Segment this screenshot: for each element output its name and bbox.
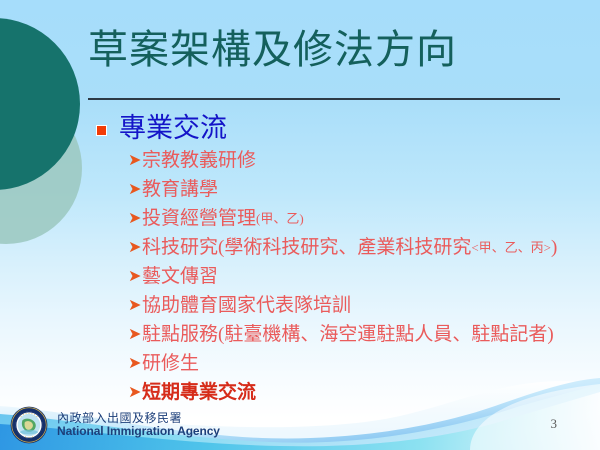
level2-list-item: ➤研修生 (128, 350, 596, 377)
arrow-right-marker-icon: ➤ (128, 263, 141, 290)
slide-canvas: 草案架構及修法方向 專業交流 ➤宗教教義研修➤教育講學➤投資經營管理(甲、乙)➤… (0, 0, 600, 450)
level2-list: ➤宗教教義研修➤教育講學➤投資經營管理(甲、乙)➤科技研究(學術科技研究、產業科… (96, 147, 596, 406)
slide-title: 草案架構及修法方向 (88, 27, 457, 73)
level2-item-label: 宗教教義研修 (142, 147, 256, 174)
level2-item-annotation: <甲、乙、丙> (471, 234, 551, 261)
level2-list-item: ➤投資經營管理(甲、乙) (128, 205, 596, 232)
nia-emblem-logo-icon (10, 406, 48, 444)
page-number: 3 (551, 416, 558, 432)
level2-item-label: 協助體育國家代表隊培訓 (142, 292, 351, 319)
arrow-right-marker-icon: ➤ (128, 321, 141, 348)
arrow-right-marker-icon: ➤ (128, 234, 141, 261)
level2-list-item: ➤教育講學 (128, 176, 596, 203)
arrow-right-marker-icon: ➤ (128, 147, 141, 174)
footer-org-name-en: National Immigration Agency (57, 425, 220, 438)
level2-list-item: ➤科技研究(學術科技研究、產業科技研究<甲、乙、丙>) (128, 234, 596, 261)
footer-org-text: 內政部入出國及移民署 National Immigration Agency (57, 412, 220, 438)
title-underline-rule (88, 98, 560, 100)
level2-list-item: ➤駐點服務(駐臺機構、海空運駐點人員、駐點記者) (128, 321, 596, 348)
arrow-right-marker-icon: ➤ (128, 292, 141, 319)
level2-item-label: 科技研究(學術科技研究、產業科技研究 (142, 234, 471, 261)
arrow-right-marker-icon: ➤ (128, 379, 141, 406)
level2-item-label: 研修生 (142, 350, 199, 377)
arrow-right-marker-icon: ➤ (128, 350, 141, 377)
footer-branding: 內政部入出國及移民署 National Immigration Agency (10, 406, 220, 444)
level2-list-item: ➤宗教教義研修 (128, 147, 596, 174)
level2-item-tail: ) (551, 234, 557, 261)
level1-bullet-label: 專業交流 (119, 113, 227, 143)
orange-square-bullet-icon (96, 125, 107, 136)
level2-list-item: ➤短期專業交流 (128, 379, 596, 406)
level2-item-label: 藝文傳習 (142, 263, 218, 290)
slide-body: 專業交流 ➤宗教教義研修➤教育講學➤投資經營管理(甲、乙)➤科技研究(學術科技研… (96, 113, 596, 408)
level2-list-item: ➤藝文傳習 (128, 263, 596, 290)
level2-item-label: 駐點服務(駐臺機構、海空運駐點人員、駐點記者) (142, 321, 554, 348)
level2-item-label: 教育講學 (142, 176, 218, 203)
level2-item-annotation: (甲、乙) (256, 205, 304, 232)
level2-item-label: 短期專業交流 (142, 379, 256, 406)
level2-list-item: ➤協助體育國家代表隊培訓 (128, 292, 596, 319)
arrow-right-marker-icon: ➤ (128, 205, 141, 232)
level2-item-label: 投資經營管理 (142, 205, 256, 232)
arrow-right-marker-icon: ➤ (128, 176, 141, 203)
level1-bullet-row: 專業交流 (96, 113, 596, 143)
